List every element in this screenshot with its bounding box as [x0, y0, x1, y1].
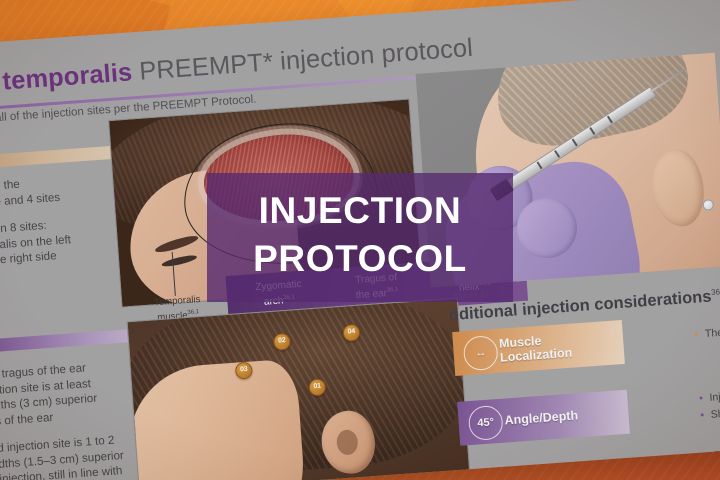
considerations-list-muscle: The patient can clench their teeth to ac… [655, 306, 720, 347]
title-overlay-text: INJECTION PROTOCOL [207, 187, 513, 283]
screenshot-stage: d temporalis PREEMPT* injection protocol… [0, 0, 720, 480]
injection-head-illustration: 01 02 03 04 [128, 299, 470, 480]
title-overlay-line-2: PROTOCOL [207, 235, 513, 283]
label-superscript: 36,1 [187, 309, 199, 316]
title-overlay-panel: INJECTION PROTOCOL [207, 173, 513, 302]
photo-earring [702, 199, 714, 211]
title-overlay-line-1: INJECTION [207, 187, 513, 235]
badge-label: Muscle Localization [499, 332, 573, 365]
badge-label: Angle/Depth [504, 408, 578, 427]
angle-depth-icon: 45° [468, 405, 504, 441]
badge-angle-depth: 45° Angle/Depth [457, 390, 630, 446]
considerations-list-angle: Inject at a 45° angle, away from the fac… [659, 370, 720, 428]
consideration-item: The patient can clench their teeth to ac… [694, 306, 720, 341]
syringe-tick [607, 116, 613, 124]
considerations-heading-superscript: 36,37 [711, 287, 720, 297]
label-line-1: Temporalis [154, 294, 201, 308]
syringe-tick [589, 127, 595, 135]
syringe-tick [537, 161, 543, 169]
figure-injection-sites: 01 02 03 04 [127, 298, 472, 480]
consideration-item: Inject at a 45° angle, away from the fac… [699, 370, 720, 405]
syringe-tick [554, 150, 560, 158]
muscle-localization-icon: ↔ [463, 335, 499, 371]
document-title-bold: temporalis [2, 58, 134, 95]
syringe-tick [572, 138, 578, 146]
badge-muscle-localization: ↔ Muscle Localization [452, 320, 625, 376]
